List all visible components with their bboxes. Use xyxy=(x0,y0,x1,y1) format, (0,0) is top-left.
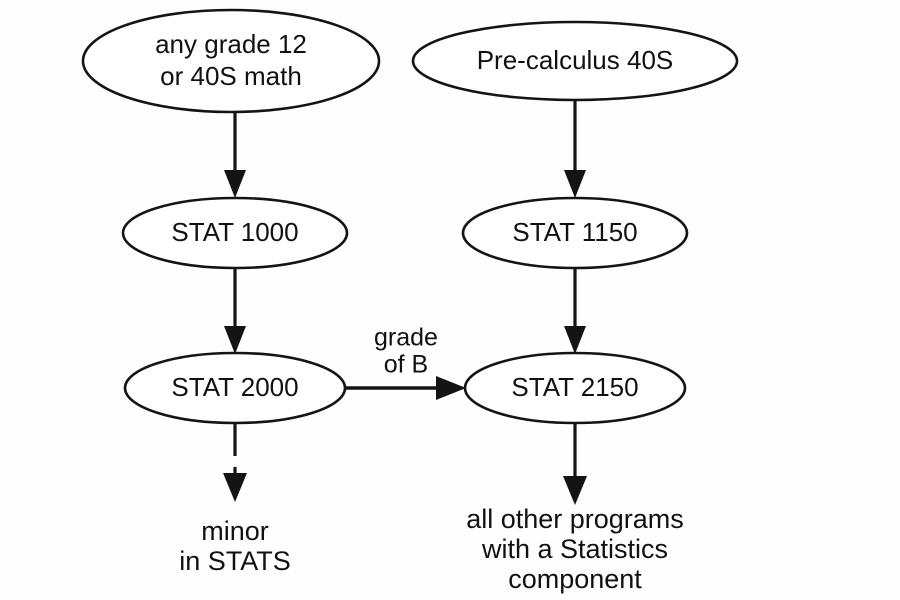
edge-stat2000-to-stat2150-grade-b xyxy=(346,376,466,400)
terminal-minor-in-stats: minor in STATS xyxy=(179,516,291,576)
node-stat-2000[interactable]: STAT 2000 xyxy=(125,353,345,423)
edge-grade12-to-stat1000 xyxy=(224,112,246,198)
terminal-minor-line1: minor xyxy=(201,516,269,546)
edge-stat2000-to-minor xyxy=(223,423,247,502)
node-stat-1150[interactable]: STAT 1150 xyxy=(463,198,687,268)
node-label-stat2000: STAT 2000 xyxy=(171,372,298,402)
node-label-grade12-line2: or 40S math xyxy=(160,61,302,91)
node-label-precalculus: Pre-calculus 40S xyxy=(477,45,674,75)
terminal-other-programs-line2: with a Statistics xyxy=(481,534,668,564)
terminal-other-programs: all other programs with a Statistics com… xyxy=(466,504,684,594)
terminal-other-programs-line1: all other programs xyxy=(466,504,684,534)
edge-stat2150-to-other-programs xyxy=(563,423,587,505)
arrowhead-down-icon xyxy=(224,170,246,198)
arrowhead-down-icon xyxy=(564,326,586,354)
flowchart-canvas: any grade 12 or 40S math Pre-calculus 40… xyxy=(0,0,900,600)
arrowhead-down-icon xyxy=(224,326,246,354)
edge-label-grade-of-b: grade of B xyxy=(374,324,438,379)
edge-stat1000-to-stat2000 xyxy=(224,268,246,354)
arrowhead-down-icon xyxy=(563,476,587,505)
node-label-stat2150: STAT 2150 xyxy=(511,372,638,402)
node-label-stat1000: STAT 1000 xyxy=(171,217,298,247)
edge-stat1150-to-stat2150 xyxy=(564,268,586,354)
node-stat-1000[interactable]: STAT 1000 xyxy=(123,198,347,268)
arrowhead-down-icon xyxy=(223,473,247,502)
node-label-grade12-line1: any grade 12 xyxy=(155,29,307,59)
flowchart-svg: any grade 12 or 40S math Pre-calculus 40… xyxy=(0,0,900,600)
arrowhead-down-icon xyxy=(564,170,586,198)
terminal-other-programs-line3: component xyxy=(508,564,642,594)
node-label-stat1150: STAT 1150 xyxy=(512,217,637,247)
edge-label-grade-of-b-line1: grade xyxy=(374,324,438,352)
edge-precalculus-to-stat1150 xyxy=(564,100,586,198)
node-precalculus-40s[interactable]: Pre-calculus 40S xyxy=(413,22,737,100)
node-any-grade-12-math[interactable]: any grade 12 or 40S math xyxy=(83,10,379,112)
arrowhead-right-icon xyxy=(436,376,466,400)
terminal-minor-line2: in STATS xyxy=(179,546,291,576)
node-stat-2150[interactable]: STAT 2150 xyxy=(465,353,685,423)
edge-label-grade-of-b-line2: of B xyxy=(384,351,428,379)
